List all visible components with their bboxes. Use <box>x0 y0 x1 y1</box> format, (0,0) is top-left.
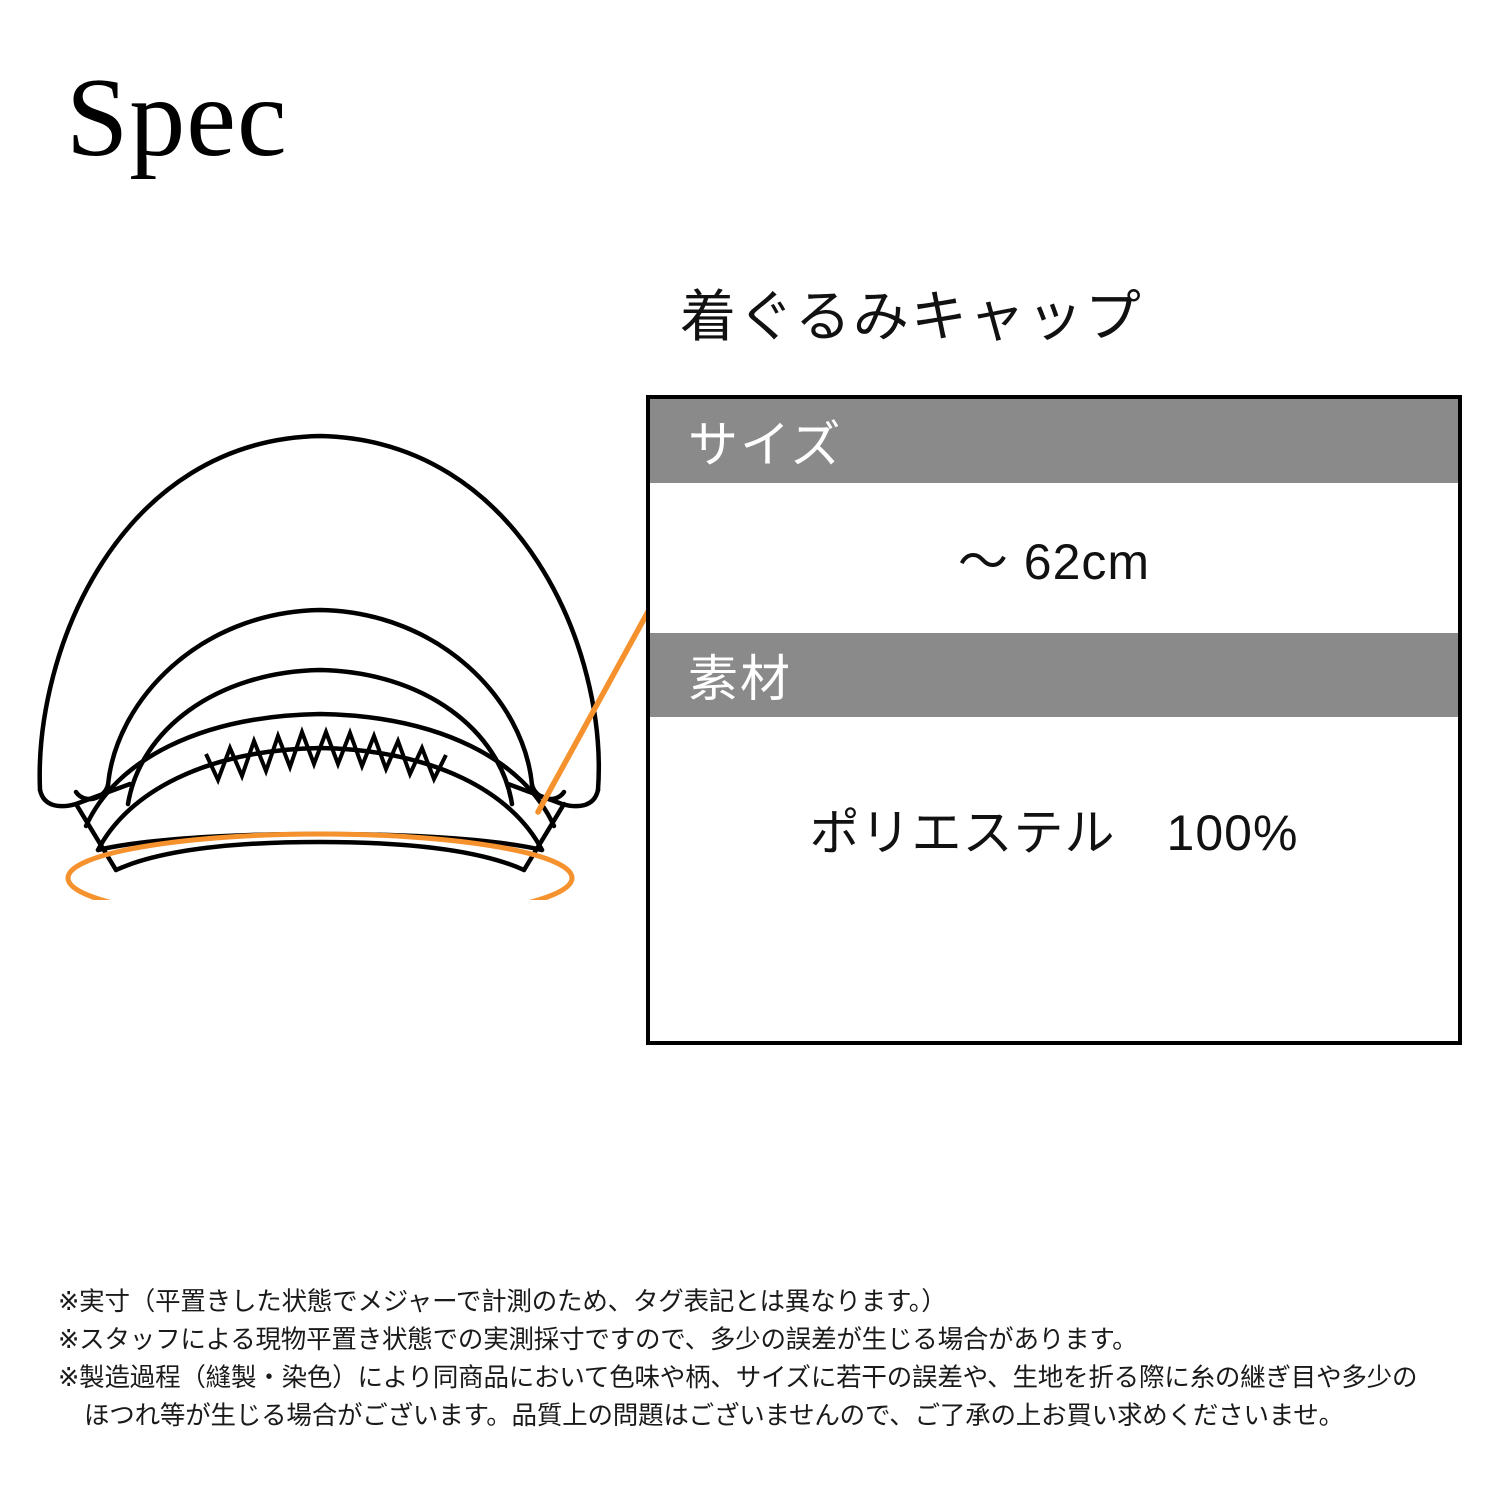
product-name: 着ぐるみキャップ <box>680 283 1143 350</box>
cap-inner-arc-1 <box>108 610 532 785</box>
cap-opening-lower-edge <box>116 842 524 870</box>
page-title: Spec <box>66 62 288 174</box>
note-line: ※実寸（平置きした状態でメジャーで計測のため、タグ表記とは異なります。） <box>58 1283 1458 1321</box>
table-row-material-header: 素材 <box>650 633 1458 717</box>
size-value-label: 〜 62cm <box>958 522 1150 594</box>
table-row-material-value: ポリエステル 100% <box>650 717 1458 1041</box>
cap-outer-crown <box>40 436 599 790</box>
cap-right-wall <box>508 784 598 806</box>
notes-block: ※実寸（平置きした状態でメジャーで計測のため、タグ表記とは異なります。） ※スタ… <box>58 1283 1458 1435</box>
cuff-band-top-edge <box>86 714 554 826</box>
material-header-label: 素材 <box>688 639 792 711</box>
table-row-size-value: 〜 62cm <box>650 483 1458 633</box>
cap-illustration <box>20 400 660 900</box>
note-line: ※スタッフによる現物平置き状態での実測採寸ですので、多少の誤差が生じる場合があり… <box>58 1321 1458 1359</box>
note-line: ※製造過程（縫製・染色）により同商品において色味や柄、サイズに若干の誤差や、生地… <box>58 1359 1458 1397</box>
table-row-size-header: サイズ <box>650 399 1458 483</box>
spec-table: サイズ 〜 62cm 素材 ポリエステル 100% <box>646 395 1462 1045</box>
note-line: ほつれ等が生じる場合がございます。品質上の問題はございませんので、ご了承の上お買… <box>58 1397 1458 1435</box>
cap-left-wall <box>40 784 130 806</box>
size-header-label: サイズ <box>688 405 843 477</box>
material-value-label: ポリエステル 100% <box>810 793 1299 865</box>
